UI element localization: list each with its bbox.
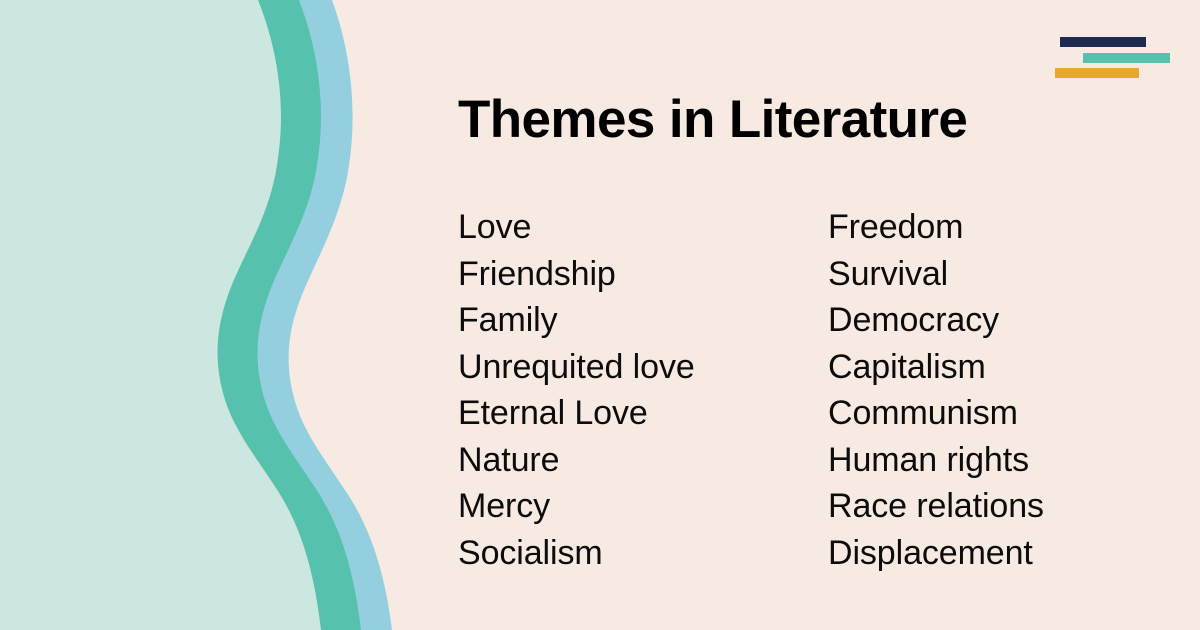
themes-list: Love Friendship Family Unrequited love E…	[458, 204, 1118, 576]
list-item: Socialism	[458, 530, 828, 577]
list-item: Communism	[828, 390, 1118, 437]
list-item: Nature	[458, 437, 828, 484]
list-item: Displacement	[828, 530, 1118, 577]
list-item: Democracy	[828, 297, 1118, 344]
list-item: Love	[458, 204, 828, 251]
logo-bar-navy	[1060, 37, 1146, 47]
list-item: Unrequited love	[458, 344, 828, 391]
themes-column-right: Freedom Survival Democracy Capitalism Co…	[828, 204, 1118, 576]
list-item: Eternal Love	[458, 390, 828, 437]
stacked-bars-logo-icon	[1048, 31, 1178, 83]
list-item: Race relations	[828, 483, 1118, 530]
list-item: Family	[458, 297, 828, 344]
page-title: Themes in Literature	[458, 91, 967, 148]
poster-canvas: Themes in Literature Love Friendship Fam…	[0, 0, 1200, 630]
list-item: Mercy	[458, 483, 828, 530]
layered-wave-graphic-icon	[0, 0, 420, 630]
list-item: Survival	[828, 251, 1118, 298]
logo-bar-teal	[1083, 53, 1170, 63]
list-item: Freedom	[828, 204, 1118, 251]
logo-bar-gold	[1055, 68, 1139, 78]
list-item: Human rights	[828, 437, 1118, 484]
list-item: Friendship	[458, 251, 828, 298]
list-item: Capitalism	[828, 344, 1118, 391]
themes-column-left: Love Friendship Family Unrequited love E…	[458, 204, 828, 576]
